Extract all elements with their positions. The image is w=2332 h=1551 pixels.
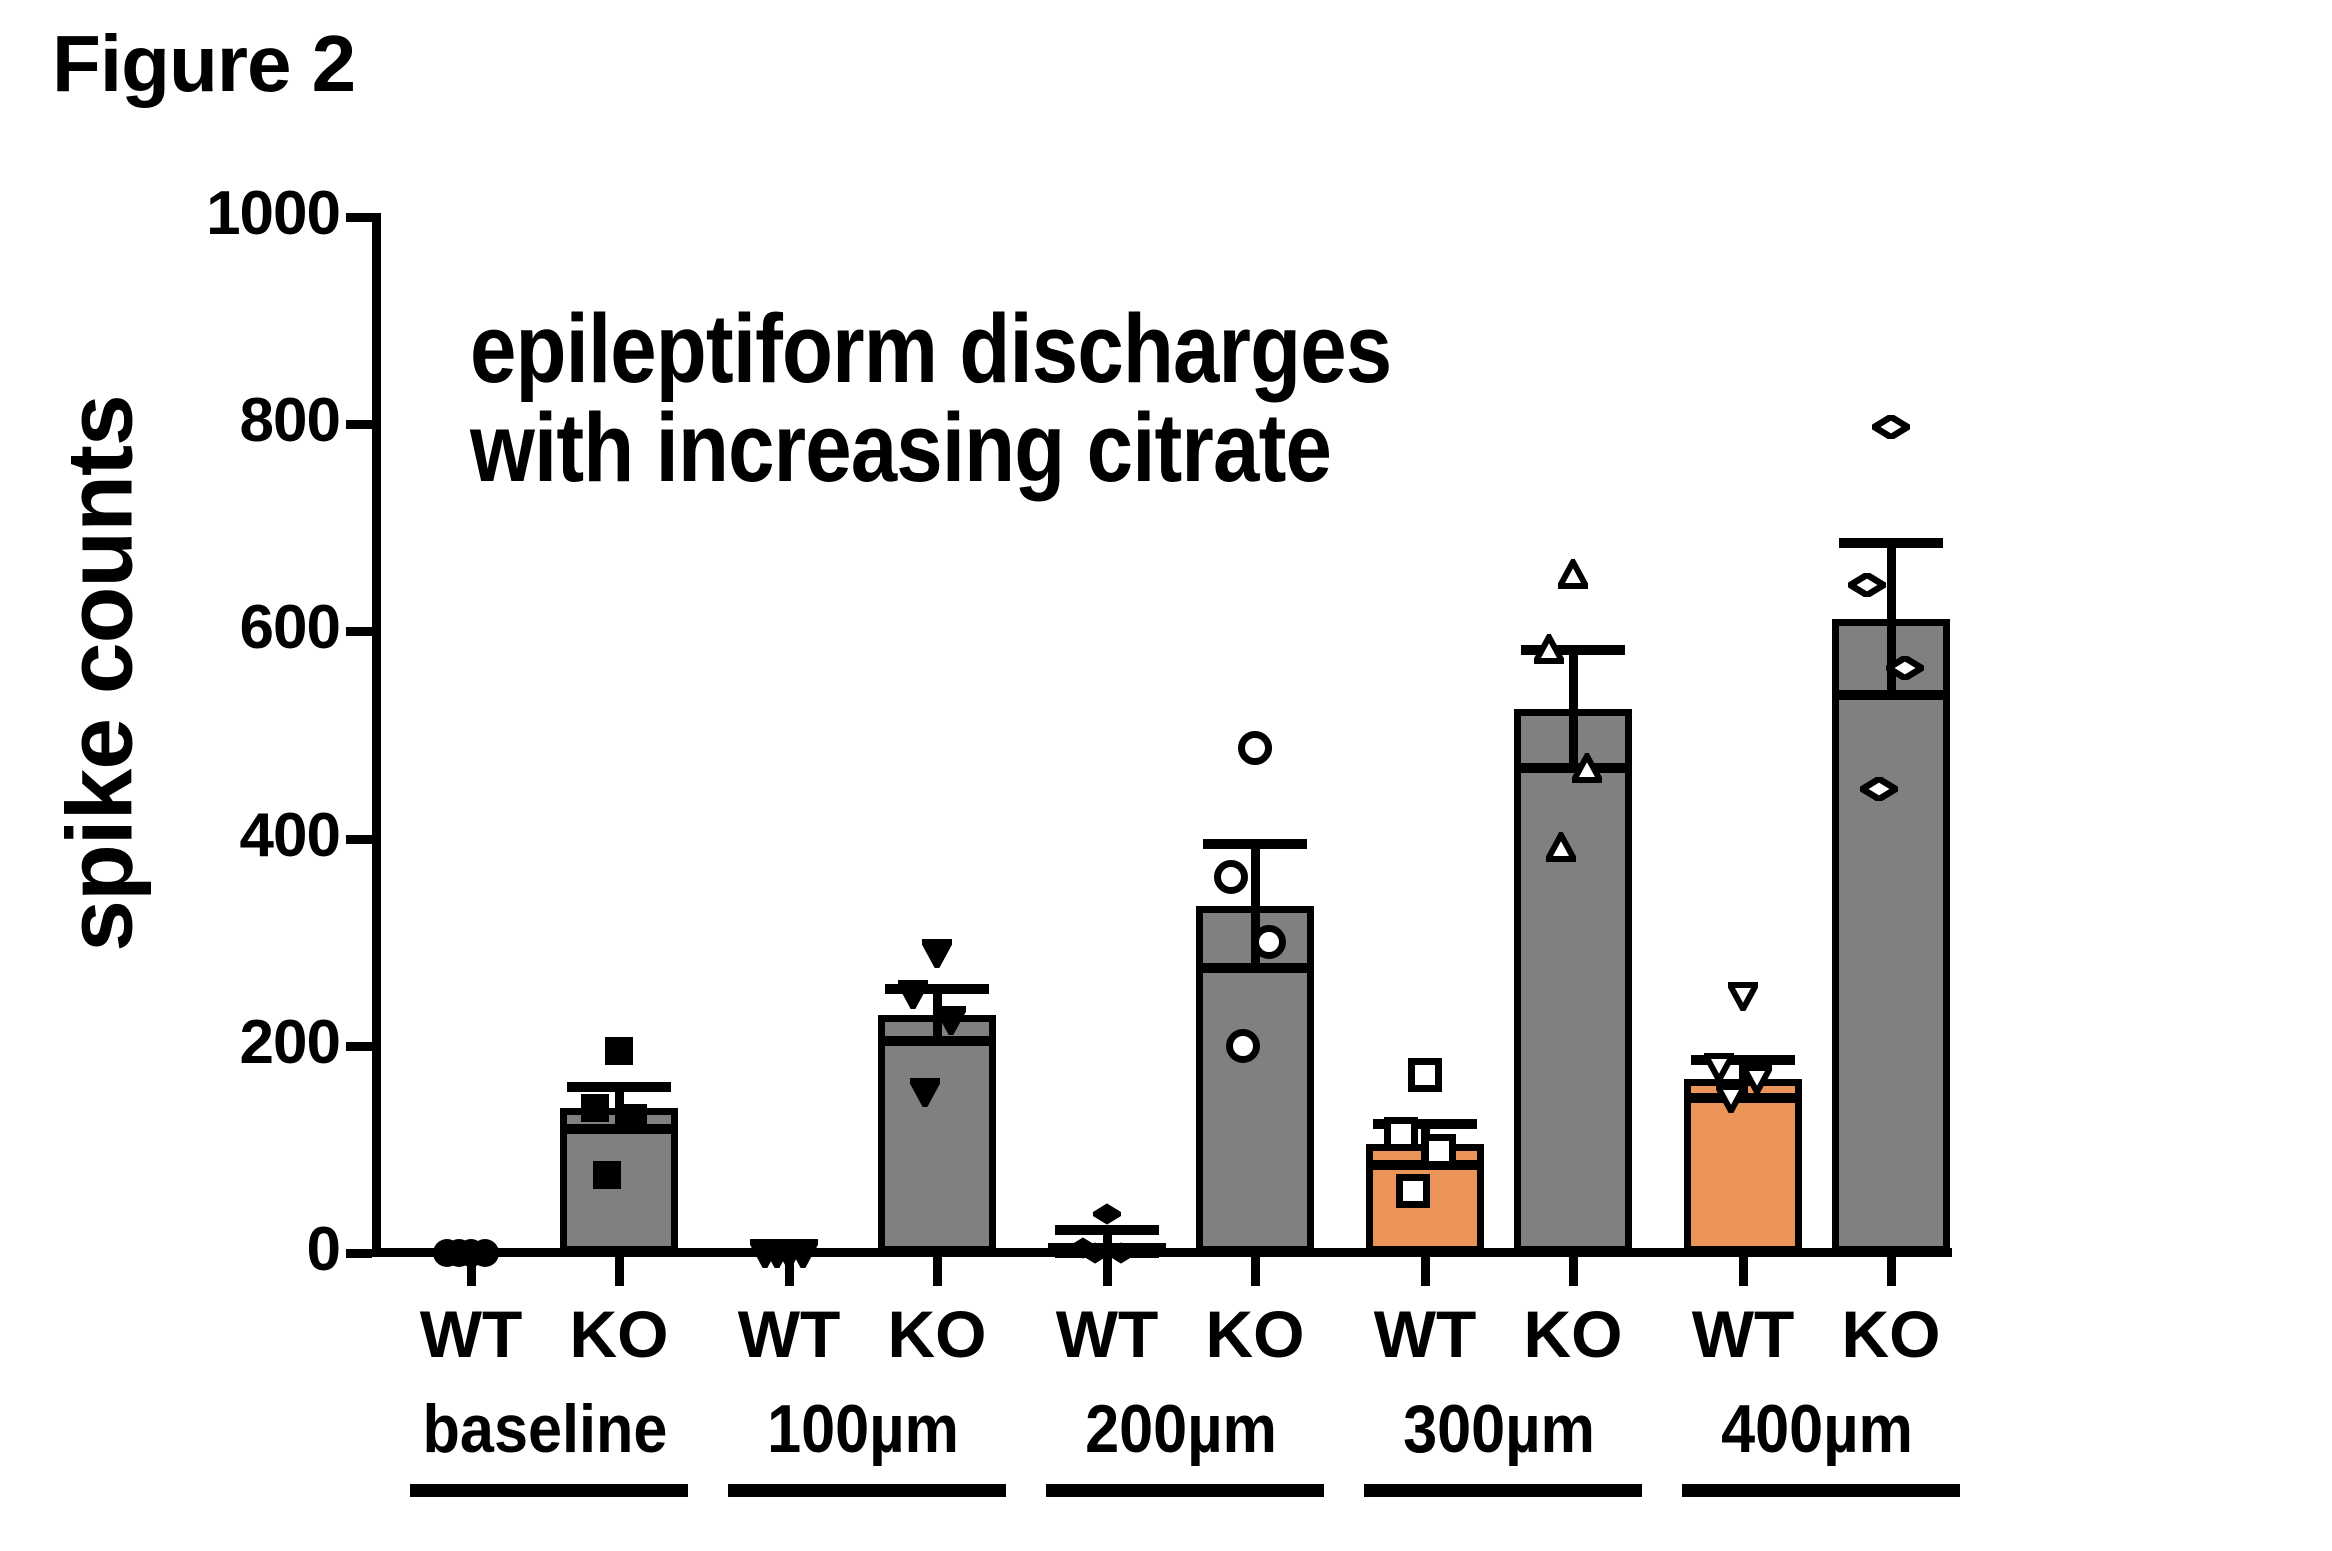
y-axis-line bbox=[372, 213, 381, 1257]
data-point-100um-ko-3 bbox=[910, 1077, 940, 1107]
data-point-100um-ko-1 bbox=[898, 979, 928, 1009]
chart-title-line-1: with increasing citrate bbox=[470, 399, 1588, 498]
x-tick-300um-ko bbox=[1569, 1256, 1578, 1286]
data-point-300um-wt-1 bbox=[1384, 1117, 1418, 1151]
group-label-2: 200µm bbox=[1019, 1390, 1343, 1468]
group-label-1: 100µm bbox=[701, 1390, 1025, 1468]
data-point-100um-wt-2 bbox=[788, 1238, 818, 1268]
bar-100um-ko[interactable] bbox=[878, 1015, 996, 1253]
x-tick-baseline-ko bbox=[615, 1256, 624, 1286]
data-point-baseline-ko-0 bbox=[605, 1037, 633, 1065]
data-point-200um-ko-3 bbox=[1226, 1029, 1260, 1063]
data-point-400um-wt-0 bbox=[1728, 981, 1758, 1011]
data-point-300um-ko-2 bbox=[1572, 753, 1602, 783]
data-point-300um-ko-0 bbox=[1558, 559, 1588, 589]
data-point-300um-wt-3 bbox=[1396, 1174, 1430, 1208]
data-point-400um-ko-0 bbox=[1872, 415, 1910, 439]
data-point-100um-ko-2 bbox=[936, 1005, 966, 1035]
x-tick-200um-ko bbox=[1251, 1256, 1260, 1286]
data-point-300um-wt-0 bbox=[1408, 1058, 1442, 1092]
data-point-300um-ko-3 bbox=[1546, 832, 1576, 862]
data-point-baseline-ko-1 bbox=[581, 1094, 609, 1122]
y-tick-label-1000: 1000 bbox=[110, 183, 340, 245]
data-point-baseline-wt-3 bbox=[445, 1239, 473, 1267]
y-tick-200 bbox=[346, 1042, 372, 1051]
data-point-200um-ko-1 bbox=[1214, 860, 1248, 894]
data-point-200um-ko-0 bbox=[1238, 731, 1272, 765]
y-tick-label-0: 0 bbox=[110, 1219, 340, 1281]
group-label-4: 400µm bbox=[1655, 1390, 1979, 1468]
y-tick-label-600: 600 bbox=[110, 597, 340, 659]
error-bar-cap-upper-baseline-ko bbox=[567, 1082, 671, 1092]
group-rule-2 bbox=[1046, 1484, 1324, 1497]
data-point-300um-wt-2 bbox=[1422, 1134, 1456, 1168]
error-bar-stem-300um-ko bbox=[1569, 650, 1578, 768]
data-point-300um-ko-1 bbox=[1534, 634, 1564, 664]
error-bar-cap-upper-400um-ko bbox=[1839, 538, 1943, 548]
error-bar-cap-lower-400um-ko bbox=[1839, 690, 1943, 700]
y-tick-400 bbox=[346, 835, 372, 844]
data-point-400um-wt-3 bbox=[1716, 1083, 1746, 1113]
group-rule-4 bbox=[1682, 1484, 1960, 1497]
bar-400um-ko[interactable] bbox=[1832, 619, 1950, 1253]
data-point-400um-ko-1 bbox=[1848, 573, 1886, 597]
data-point-400um-ko-2 bbox=[1886, 656, 1924, 680]
x-tick-400um-wt bbox=[1739, 1256, 1748, 1286]
data-point-100um-ko-0 bbox=[922, 938, 952, 968]
chart-title: epileptiform dischargeswith increasing c… bbox=[470, 300, 1588, 498]
y-tick-1000 bbox=[346, 213, 372, 222]
x-tick-400um-ko bbox=[1887, 1256, 1896, 1286]
error-bar-cap-lower-200um-ko bbox=[1203, 963, 1307, 973]
group-rule-0 bbox=[410, 1484, 688, 1497]
chart-title-line-0: epileptiform discharges bbox=[470, 300, 1588, 399]
y-tick-label-800: 800 bbox=[110, 390, 340, 452]
data-point-200um-wt-0 bbox=[1093, 1200, 1121, 1228]
y-tick-0 bbox=[346, 1249, 372, 1258]
error-bar-cap-upper-200um-ko bbox=[1203, 839, 1307, 849]
group-label-0: baseline bbox=[383, 1390, 707, 1468]
chart-plot-area: spike counts 02004006008001000 epileptif… bbox=[0, 0, 2332, 1551]
data-point-400um-wt-1 bbox=[1704, 1052, 1734, 1082]
data-point-200um-wt-3 bbox=[1081, 1239, 1109, 1267]
error-bar-cap-lower-100um-ko bbox=[885, 1036, 989, 1046]
x-tick-300um-wt bbox=[1421, 1256, 1430, 1286]
y-tick-label-400: 400 bbox=[110, 805, 340, 867]
data-point-400um-wt-2 bbox=[1742, 1064, 1772, 1094]
x-tick-100um-ko bbox=[933, 1256, 942, 1286]
bar-300um-ko[interactable] bbox=[1514, 709, 1632, 1253]
group-rule-1 bbox=[728, 1484, 1006, 1497]
data-point-baseline-ko-3 bbox=[593, 1161, 621, 1189]
data-point-100um-wt-3 bbox=[762, 1238, 792, 1268]
data-point-baseline-ko-2 bbox=[619, 1104, 647, 1132]
y-tick-800 bbox=[346, 420, 372, 429]
y-tick-label-200: 200 bbox=[110, 1012, 340, 1074]
group-rule-3 bbox=[1364, 1484, 1642, 1497]
data-point-200um-wt-2 bbox=[1107, 1239, 1135, 1267]
x-label-400um-ko: KO bbox=[1791, 1296, 1991, 1372]
y-tick-600 bbox=[346, 627, 372, 636]
data-point-400um-ko-3 bbox=[1860, 777, 1898, 801]
data-point-baseline-wt-2 bbox=[471, 1239, 499, 1267]
group-label-3: 300µm bbox=[1337, 1390, 1661, 1468]
